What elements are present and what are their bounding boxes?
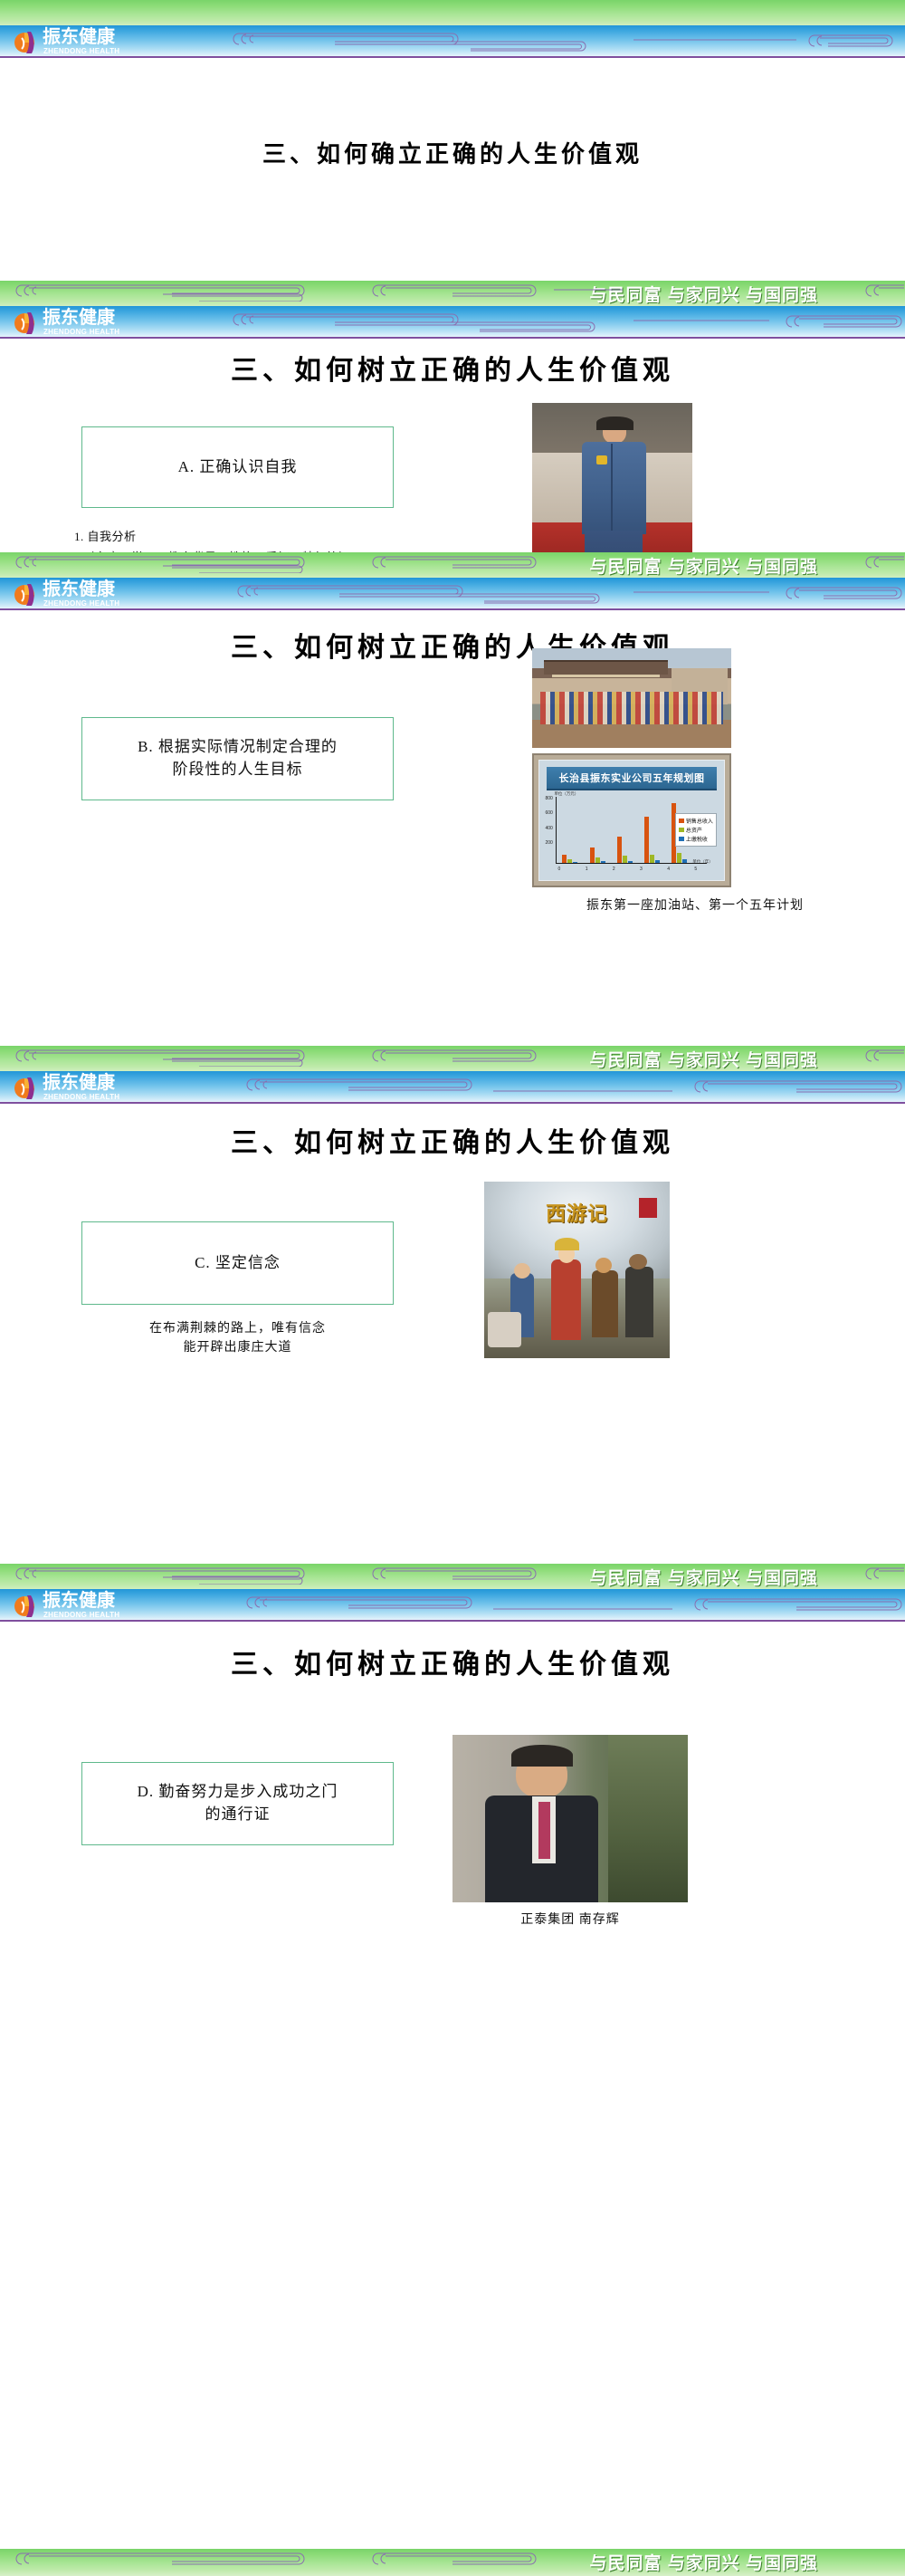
list-item: 1. 自我分析: [74, 527, 351, 548]
brand-logo: 振东健康 ZHENDONG HEALTH: [13, 1075, 176, 1102]
x-tick-label: 1: [586, 867, 588, 872]
brand-logo: 振东健康 ZHENDONG HEALTH: [13, 1593, 176, 1620]
legend-label: 销售总收入: [686, 817, 713, 825]
bar-group: [644, 796, 660, 863]
concept-box-a-text: A. 正确认识自我: [178, 456, 298, 479]
slide-header-banner: 与民同富 与家同兴 与国同强: [0, 552, 905, 610]
concept-box-d-line1: D. 勤奋努力是步入成功之门: [138, 1783, 338, 1800]
bar-tax: [573, 862, 577, 863]
slide-header-banner: 与民同富 与家同兴 与国同强: [0, 1046, 905, 1104]
x-tick-label: 2: [613, 867, 615, 872]
slide-section-c: 与民同富 与家同兴 与国同强: [0, 1046, 905, 1517]
bar-assets: [595, 857, 600, 863]
x-tick-label: 5: [694, 867, 697, 872]
slide-section-b: 与民同富 与家同兴 与国同强: [0, 552, 905, 1046]
photo-gas-station-group: [532, 648, 731, 748]
logo-english-name: ZHENDONG HEALTH: [43, 328, 119, 336]
chart-title: 长治县振东实业公司五年规划图: [559, 771, 705, 785]
belief-note-line1: 在布满荆棘的路上，唯有信念: [81, 1319, 394, 1338]
slide-section-a: 与民同富 与家同兴 与国同强: [0, 281, 905, 552]
y-tick-label: 800: [545, 796, 552, 801]
zhendong-logo-icon: [13, 1076, 38, 1101]
concept-box-d: D. 勤奋努力是步入成功之门 的通行证: [81, 1762, 394, 1845]
slide-header-banner: 与民同富 与家同兴 与国同强: [0, 2549, 905, 2576]
x-tick-label: 0: [558, 867, 561, 872]
brand-logo: 振东健康 ZHENDONG HEALTH: [13, 310, 176, 337]
photo-caption-b: 振东第一座加油站、第一个五年计划: [532, 895, 858, 914]
brand-slogan: 与民同富 与家同兴 与国同强: [589, 2550, 818, 2574]
legend-swatch-icon: [679, 837, 684, 841]
concept-box-b: B. 根据实际情况制定合理的 阶段性的人生目标: [81, 717, 394, 800]
logo-chinese-name: 振东健康: [43, 580, 115, 599]
handout-page: 振东健康 ZHENDONG HEALTH 三、如何确立正确的人生价值观 与民同富…: [0, 0, 905, 2576]
legend-swatch-icon: [679, 828, 684, 832]
portrait-nan-cunhui: [452, 1735, 688, 1902]
slide-cover-body: 三、如何确立正确的人生价值观: [0, 58, 905, 281]
concept-box-c-text: C. 坚定信念: [195, 1252, 281, 1275]
slide-section-d: 与民同富 与家同兴 与国同强: [0, 1517, 905, 2549]
chart-canvas: 长治县振东实业公司五年规划图 单位（万元） 单位（年） 200 400 600 …: [538, 760, 725, 881]
slide-header-banner: 与民同富 与家同兴 与国同强: [0, 281, 905, 339]
chart-title-bar: 长治县振东实业公司五年规划图: [547, 767, 717, 790]
brand-slogan: 与民同富 与家同兴 与国同强: [589, 553, 818, 578]
portrait-man-in-blue-tunic-suit: [532, 403, 692, 552]
concept-box-a: A. 正确认识自我: [81, 426, 394, 508]
five-year-plan-chart: 长治县振东实业公司五年规划图 单位（万元） 单位（年） 200 400 600 …: [532, 753, 731, 887]
x-tick-label: 3: [640, 867, 643, 872]
chart-y-axis: [556, 797, 557, 864]
poster-badge-icon: [639, 1198, 657, 1218]
brand-logo: 振东健康 ZHENDONG HEALTH: [13, 29, 176, 56]
slide-next-partial: 与民同富 与家同兴 与国同强: [0, 2549, 905, 2576]
slide-title: 三、如何树立正确的人生价值观: [0, 625, 905, 665]
chart-legend: 销售总收入 总资产 上缴税收: [675, 813, 717, 847]
brand-slogan: 与民同富 与家同兴 与国同强: [589, 1565, 818, 1589]
slide-header-banner: 振东健康 ZHENDONG HEALTH: [0, 0, 905, 58]
slide-title: 三、如何树立正确的人生价值观: [0, 1120, 905, 1160]
chart-x-axis: [556, 863, 707, 864]
belief-note-line2: 能开辟出康庄大道: [81, 1338, 394, 1357]
legend-item: 总资产: [679, 826, 713, 834]
concept-box-c: C. 坚定信念: [81, 1221, 394, 1305]
banner-green-stripe: [0, 0, 905, 27]
slide-top-gap: [0, 1517, 905, 1564]
slide-cover: 振东健康 ZHENDONG HEALTH 三、如何确立正确的人生价值观: [0, 0, 905, 281]
logo-chinese-name: 振东健康: [43, 1592, 115, 1611]
zhendong-logo-icon: [13, 1594, 38, 1619]
logo-chinese-name: 振东健康: [43, 28, 115, 47]
legend-label: 总资产: [686, 826, 702, 834]
slide-title: 三、如何树立正确的人生价值观: [0, 348, 905, 388]
logo-english-name: ZHENDONG HEALTH: [43, 599, 119, 608]
photo-caption-d: 正泰集团 南存辉: [452, 1910, 688, 1928]
bar-assets: [650, 855, 654, 863]
brand-slogan: 与民同富 与家同兴 与国同强: [589, 282, 818, 306]
logo-english-name: ZHENDONG HEALTH: [43, 1093, 119, 1101]
concept-box-b-line1: B. 根据实际情况制定合理的: [138, 738, 338, 755]
slide-b-body: 三、如何树立正确的人生价值观 B. 根据实际情况制定合理的 阶段性的人生目标: [0, 610, 905, 1046]
slide-header-banner: 与民同富 与家同兴 与国同强: [0, 1564, 905, 1622]
bar-assets: [677, 853, 681, 862]
bar-assets: [567, 859, 572, 863]
bar-sales: [644, 817, 649, 862]
bar-group: [562, 796, 577, 863]
legend-swatch-icon: [679, 819, 684, 823]
cover-title: 三、如何确立正确的人生价值观: [0, 136, 905, 169]
legend-item: 销售总收入: [679, 817, 713, 825]
slide-a-body: 三、如何树立正确的人生价值观 A. 正确认识自我 1. 自我分析 （家庭、学习、…: [0, 339, 905, 552]
zhendong-logo-icon: [13, 311, 38, 336]
zhendong-logo-icon: [13, 30, 38, 55]
logo-chinese-name: 振东健康: [43, 309, 115, 328]
bar-sales: [617, 837, 622, 863]
concept-box-b-line2: 阶段性的人生目标: [173, 761, 303, 778]
slide-d-body: 三、如何树立正确的人生价值观 D. 勤奋努力是步入成功之门 的通行证 正泰集团 …: [0, 1622, 905, 2549]
brand-logo: 振东健康 ZHENDONG HEALTH: [13, 581, 176, 608]
bullet-list-a: 1. 自我分析 （家庭、学习、教育背景、性格、爱好、特征等） 2. 他人帮助 （…: [74, 527, 351, 552]
poster-journey-to-the-west: 西游记: [484, 1182, 670, 1358]
concept-box-b-text: B. 根据实际情况制定合理的 阶段性的人生目标: [138, 736, 338, 780]
logo-chinese-name: 振东健康: [43, 1074, 115, 1093]
bar-tax: [682, 859, 687, 862]
y-tick-label: 200: [545, 840, 552, 846]
belief-note-c: 在布满荆棘的路上，唯有信念 能开辟出康庄大道: [81, 1319, 394, 1357]
x-tick-label: 4: [667, 867, 670, 872]
slide-c-body: 三、如何树立正确的人生价值观 C. 坚定信念 在布满荆棘的路上，唯有信念 能开辟…: [0, 1104, 905, 1517]
bar-tax: [601, 861, 605, 862]
bar-group: [590, 796, 605, 863]
legend-label: 上缴税收: [686, 835, 708, 843]
logo-english-name: ZHENDONG HEALTH: [43, 1611, 119, 1619]
concept-box-d-text: D. 勤奋努力是步入成功之门 的通行证: [138, 1781, 338, 1825]
y-tick-label: 600: [545, 810, 552, 816]
zhendong-logo-icon: [13, 582, 38, 608]
concept-box-d-line2: 的通行证: [205, 1805, 271, 1823]
slide-title: 三、如何树立正确的人生价值观: [0, 1642, 905, 1681]
bar-assets: [623, 856, 627, 863]
bar-tax: [628, 861, 633, 863]
legend-item: 上缴税收: [679, 835, 713, 843]
bar-sales: [562, 855, 567, 862]
logo-english-name: ZHENDONG HEALTH: [43, 47, 119, 55]
poster-title: 西游记: [546, 1198, 608, 1227]
brand-slogan: 与民同富 与家同兴 与国同强: [589, 1047, 818, 1071]
bar-tax: [655, 860, 660, 862]
bar-group: [617, 796, 633, 863]
y-tick-label: 400: [545, 826, 552, 831]
bar-sales: [590, 847, 595, 862]
